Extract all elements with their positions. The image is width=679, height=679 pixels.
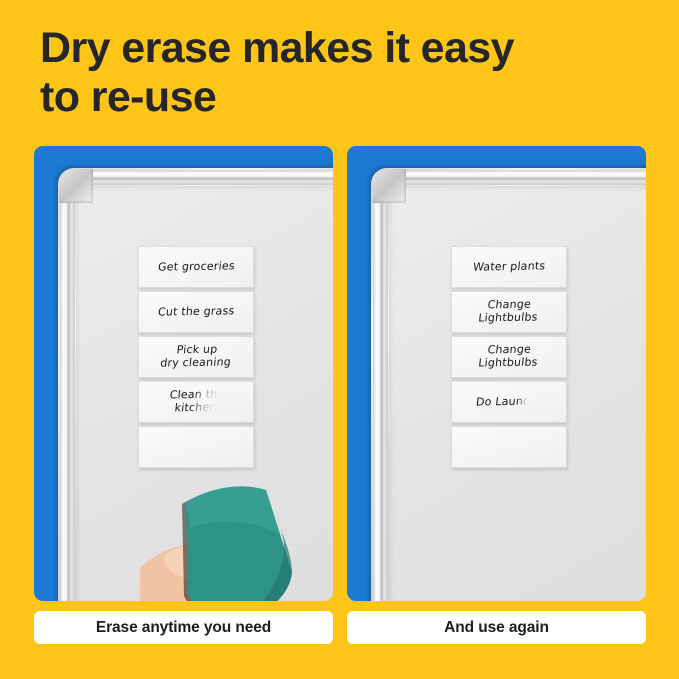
- eraser-icon: [182, 486, 292, 601]
- note-text: Clean the kitchen: [167, 389, 224, 415]
- note-text: Do Laundry: [476, 395, 543, 409]
- list-item[interactable]: Change Lightbulbs: [451, 291, 567, 333]
- list-item[interactable]: [451, 426, 567, 468]
- frame-rail-side-right: [373, 194, 388, 601]
- note-list-left: Get groceries Cut the grass Pick up dry …: [138, 246, 254, 471]
- whiteboard-surface-right: Water plants Change Lightbulbs Change Li…: [389, 186, 646, 601]
- frame-rail-side-left: [60, 194, 75, 601]
- hand-with-eraser: [210, 476, 333, 601]
- note-list-right: Water plants Change Lightbulbs Change Li…: [451, 246, 567, 471]
- note-text: Change Lightbulbs: [478, 299, 540, 325]
- list-item[interactable]: Get groceries: [138, 246, 254, 288]
- list-item[interactable]: Do Laundry: [451, 381, 567, 423]
- caption-text: And use again: [444, 619, 549, 637]
- list-item[interactable]: [138, 426, 254, 468]
- caption-erase: Erase anytime you need: [34, 611, 333, 644]
- list-item[interactable]: Clean the kitchen: [138, 381, 254, 423]
- frame-corner-right: [372, 169, 406, 203]
- whiteboard-frame-right: Water plants Change Lightbulbs Change Li…: [371, 168, 646, 601]
- frame-rail-top-left: [84, 170, 333, 185]
- list-item[interactable]: Water plants: [451, 246, 567, 288]
- reuse-panel: Water plants Change Lightbulbs Change Li…: [347, 146, 646, 601]
- frame-rail-top-right: [397, 170, 646, 185]
- note-text: Get groceries: [157, 260, 235, 274]
- caption-reuse: And use again: [347, 611, 646, 644]
- note-text: Cut the grass: [157, 305, 235, 319]
- caption-text: Erase anytime you need: [96, 619, 271, 637]
- frame-corner-left: [59, 169, 93, 203]
- list-item[interactable]: Cut the grass: [138, 291, 254, 333]
- note-text: Water plants: [472, 260, 546, 274]
- note-text: Pick up dry cleaning: [159, 344, 232, 371]
- note-text: Change Lightbulbs: [478, 344, 540, 370]
- list-item[interactable]: Pick up dry cleaning: [138, 336, 254, 378]
- erase-panel: Get groceries Cut the grass Pick up dry …: [34, 146, 333, 601]
- list-item[interactable]: Change Lightbulbs: [451, 336, 567, 378]
- page-title: Dry erase makes it easy to re-use: [40, 24, 640, 122]
